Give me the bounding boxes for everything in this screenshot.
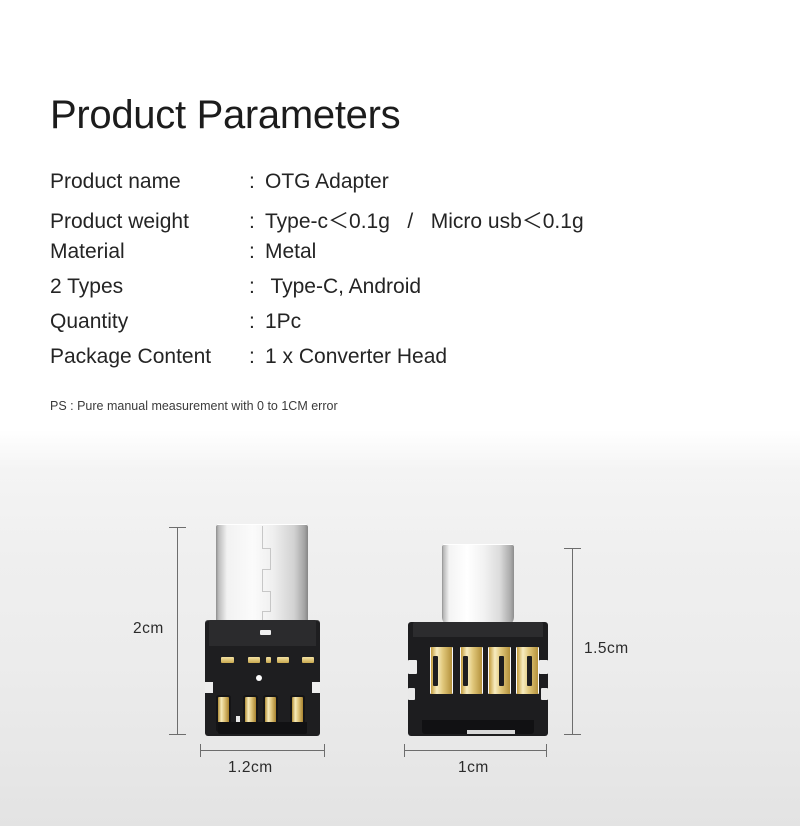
- spec-value: Metal: [265, 240, 316, 264]
- product-parameters-page: Product Parameters Product name : OTG Ad…: [0, 0, 800, 826]
- spec-value: 1 x Converter Head: [265, 345, 447, 369]
- connector-seam: [262, 526, 277, 621]
- body-top-face: [413, 622, 543, 637]
- solder-pad: [277, 657, 289, 663]
- spec-separator: :: [249, 310, 265, 334]
- side-nub: [541, 688, 548, 700]
- spec-separator: :: [249, 170, 265, 194]
- spec-label: Package Content: [50, 345, 249, 369]
- spec-row-material: Material : Metal: [50, 240, 710, 275]
- right-height-dimension-line: [572, 548, 573, 735]
- spec-row-quantity: Quantity : 1Pc: [50, 310, 710, 345]
- body-marker: [260, 630, 271, 635]
- right-width-label: 1cm: [458, 759, 489, 777]
- solder-pad: [302, 657, 314, 663]
- usb-female-port: [422, 720, 534, 734]
- spec-value: Type-c＜0.1g / Micro usb＜0.1g: [265, 205, 584, 235]
- side-notch: [539, 660, 548, 674]
- product-image-android-adapter: [205, 524, 320, 736]
- spec-value: 1Pc: [265, 310, 301, 334]
- spec-label: 2 Types: [50, 275, 249, 299]
- spec-value: OTG Adapter: [265, 170, 389, 194]
- spec-row-types: 2 Types : Type-C, Android: [50, 275, 710, 310]
- left-height-label: 2cm: [133, 620, 164, 638]
- spec-separator: :: [249, 275, 265, 299]
- type-c-connector: [442, 544, 514, 626]
- spec-label: Quantity: [50, 310, 249, 334]
- page-title: Product Parameters: [50, 90, 400, 140]
- spec-row-product-name: Product name : OTG Adapter: [50, 170, 710, 205]
- side-notch: [408, 660, 417, 674]
- spec-value: Type-C, Android: [265, 275, 421, 299]
- spec-label: Product name: [50, 170, 249, 194]
- side-notch: [312, 682, 320, 693]
- gold-contact-slot: [488, 647, 511, 694]
- spec-label: Material: [50, 240, 249, 264]
- product-image-typec-adapter: [408, 544, 548, 736]
- spec-separator: :: [249, 210, 265, 234]
- side-nub: [408, 688, 415, 700]
- specifications-list: Product name : OTG Adapter Product weigh…: [50, 170, 710, 380]
- solder-pad: [248, 657, 260, 663]
- right-width-dimension-line: [404, 750, 547, 751]
- left-height-dimension-line: [177, 527, 178, 735]
- gold-contact-slot: [460, 647, 483, 694]
- right-height-label: 1.5cm: [584, 640, 629, 658]
- port-insert: [467, 730, 515, 734]
- side-notch: [205, 682, 213, 693]
- usb-female-port: [218, 722, 307, 734]
- spec-row-product-weight: Product weight : Type-c＜0.1g / Micro usb…: [50, 205, 710, 240]
- spec-separator: :: [249, 345, 265, 369]
- measurement-note: PS : Pure manual measurement with 0 to 1…: [50, 399, 338, 413]
- adapter-body: [205, 620, 320, 736]
- solder-pad: [266, 657, 271, 663]
- spec-separator: :: [249, 240, 265, 264]
- gold-contact-slot: [430, 647, 453, 694]
- led-indicator: [256, 675, 262, 681]
- spec-row-package-content: Package Content : 1 x Converter Head: [50, 345, 710, 380]
- micro-usb-connector: [216, 524, 308, 623]
- spec-label: Product weight: [50, 210, 249, 234]
- left-width-label: 1.2cm: [228, 759, 273, 777]
- solder-pad: [221, 657, 234, 663]
- left-width-dimension-line: [200, 750, 325, 751]
- product-showcase: 2cm 1.2cm 1.5cm 1cm: [0, 480, 800, 826]
- adapter-body: [408, 622, 548, 736]
- gold-contact-slot: [516, 647, 539, 694]
